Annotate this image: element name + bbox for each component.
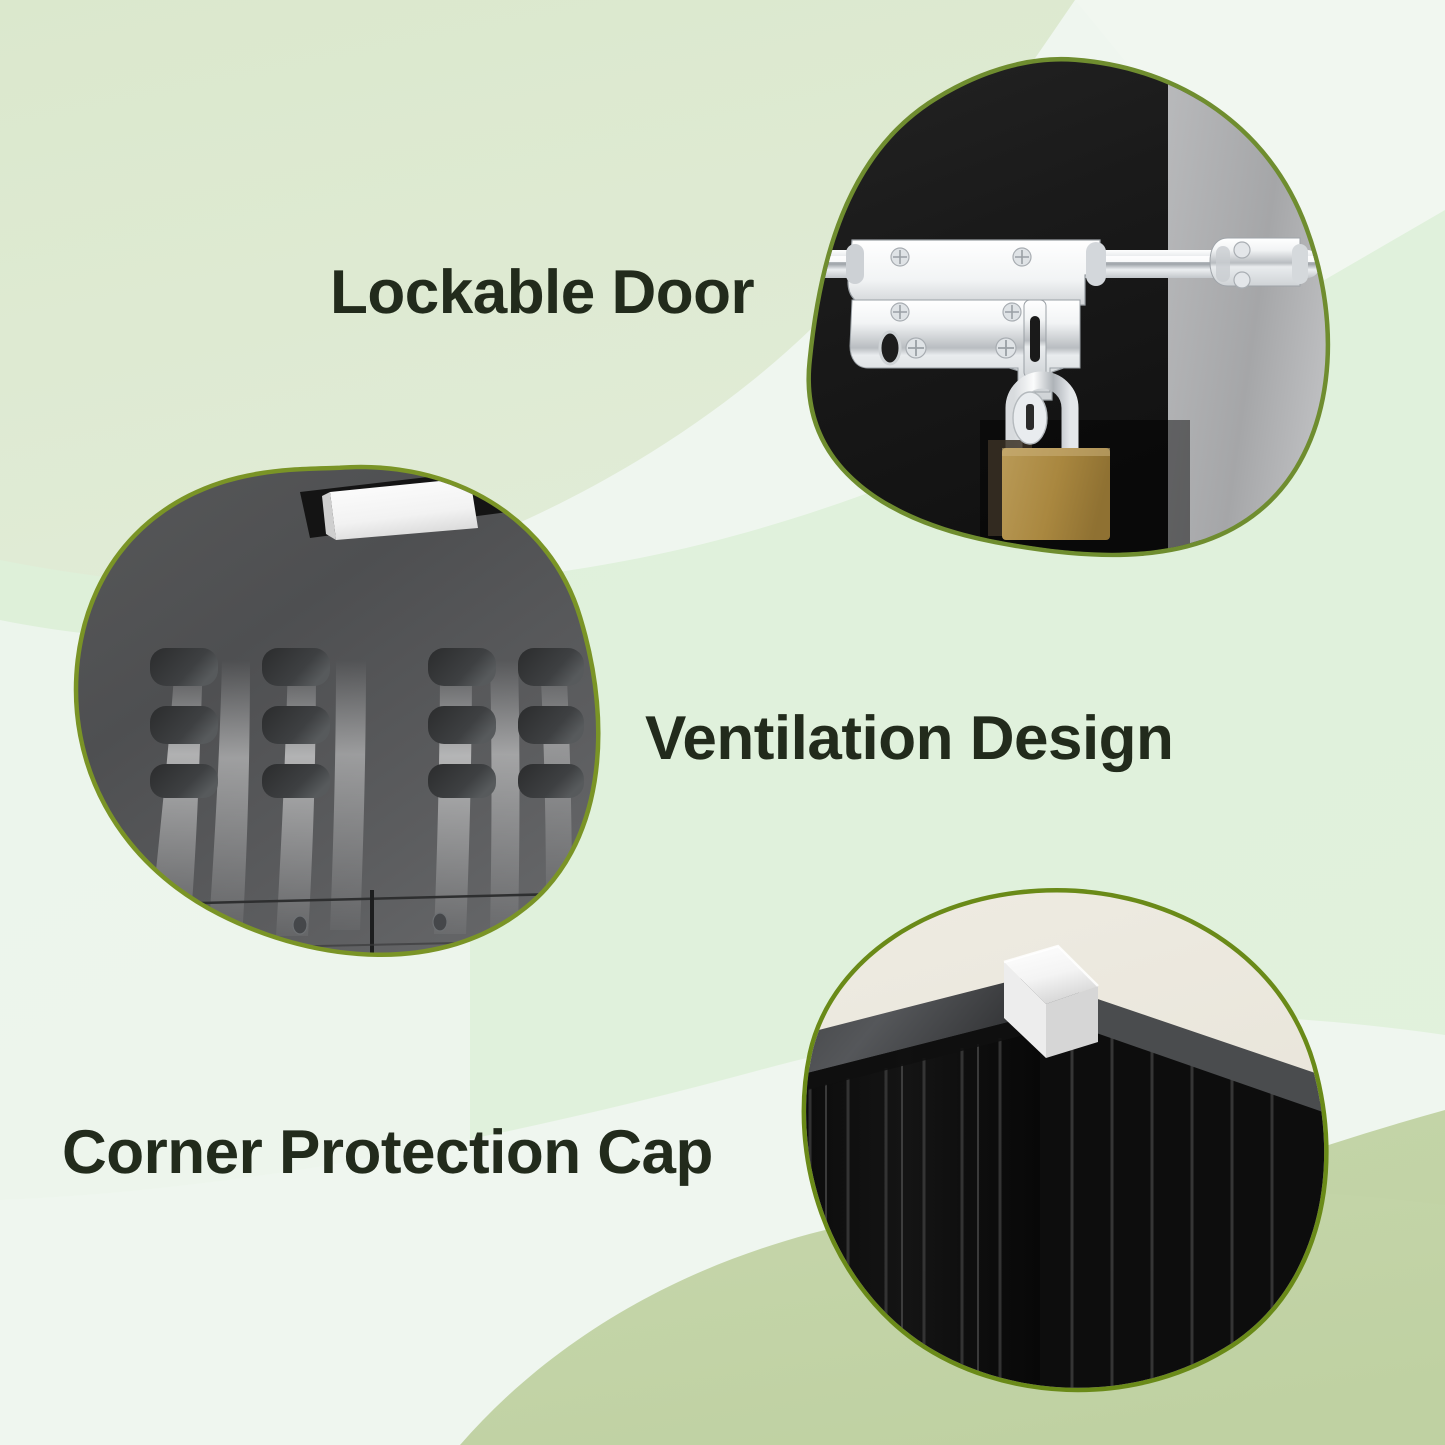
feature-label-corner-protection-cap: Corner Protection Cap: [62, 1122, 713, 1184]
feature-label-ventilation-design: Ventilation Design: [645, 708, 1173, 770]
blob-content-corner-cap: [756, 860, 1380, 1430]
infographic-canvas: Lockable Door Ventilation Design Corner …: [0, 0, 1445, 1445]
feature-label-lockable-door: Lockable Door: [330, 262, 754, 324]
